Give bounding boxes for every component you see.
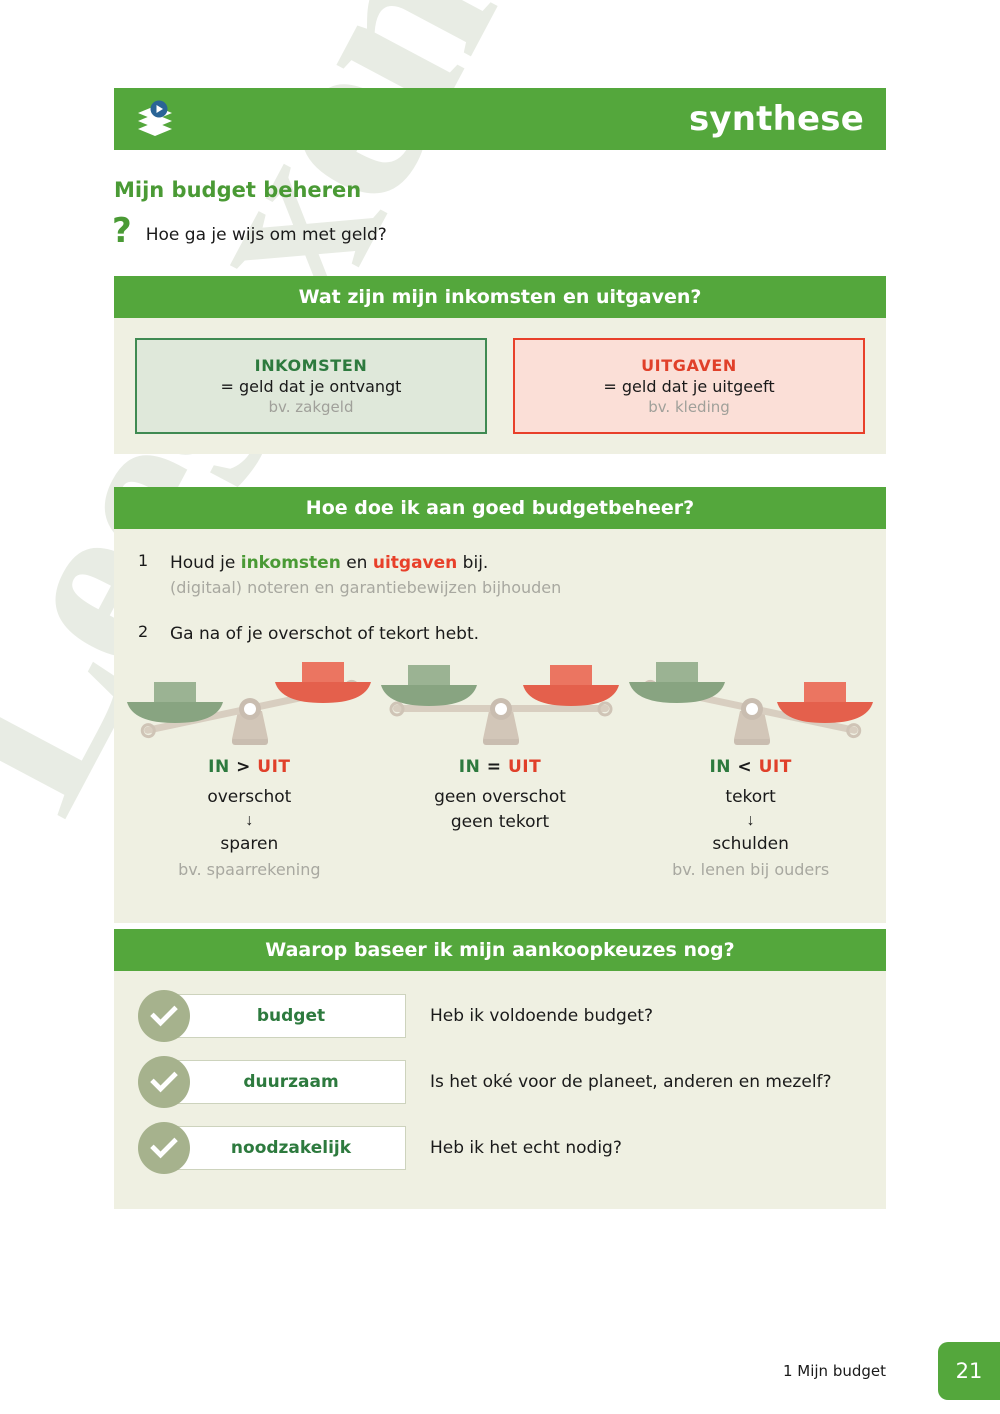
step-1-number: 1 bbox=[138, 551, 154, 600]
block-3-body: budget Heb ik voldoende budget? duurzaam… bbox=[114, 971, 886, 1209]
check-icon bbox=[138, 990, 190, 1042]
criteria-tag-label-duurzaam: duurzaam bbox=[243, 1072, 338, 1092]
expense-definition: = geld dat je uitgeeft bbox=[603, 377, 774, 396]
keyword-uitgaven: uitgaven bbox=[373, 553, 457, 573]
result-3-line1: tekort bbox=[626, 785, 876, 810]
criteria-tag-budget: budget bbox=[176, 994, 406, 1038]
criteria-tag-label-noodzakelijk: noodzakelijk bbox=[231, 1138, 351, 1158]
operator-3: < bbox=[737, 757, 752, 777]
page-title: Mijn budget beheren bbox=[114, 178, 361, 202]
criteria-tag-label-budget: budget bbox=[257, 1006, 325, 1026]
scale-illustration-surplus bbox=[124, 661, 374, 747]
income-example: bv. zakgeld bbox=[269, 398, 354, 416]
step-1-text: Houd je inkomsten en uitgaven bij. bbox=[170, 553, 488, 573]
checklist-item-noodzakelijk[interactable]: noodzakelijk Heb ik het echt nodig? bbox=[114, 1121, 886, 1175]
label-in-2: IN bbox=[459, 757, 481, 777]
result-1-line2: sparen bbox=[124, 832, 374, 857]
label-in-3: IN bbox=[709, 757, 731, 777]
step-1-subtext: (digitaal) noteren en garantiebewijzen b… bbox=[170, 576, 561, 600]
result-1-line1: overschot bbox=[124, 785, 374, 810]
expense-box: UITGAVEN = geld dat je uitgeeft bv. kled… bbox=[513, 338, 865, 434]
pan-expense bbox=[523, 665, 619, 706]
step-1-post: bij. bbox=[457, 553, 488, 573]
block-1-body: INKOMSTEN = geld dat je ontvangt bv. zak… bbox=[114, 318, 886, 454]
result-3-line2: schulden bbox=[626, 832, 876, 857]
income-definition: = geld dat je ontvangt bbox=[221, 377, 402, 396]
label-in-1: IN bbox=[208, 757, 230, 777]
block-2-body: 1 Houd je inkomsten en uitgaven bij. (di… bbox=[114, 529, 886, 923]
intro-question: ? Hoe ga je wijs om met geld? bbox=[112, 218, 387, 248]
scale-deficit: IN < UIT tekort ↓ schulden bv. lenen bij… bbox=[626, 661, 876, 883]
result-3-example: bv. lenen bij ouders bbox=[626, 857, 876, 883]
result-2-line2: geen tekort bbox=[375, 810, 625, 835]
criteria-question-noodzakelijk: Heb ik het echt nodig? bbox=[430, 1138, 622, 1158]
arrow-down-icon-1: ↓ bbox=[124, 810, 374, 832]
check-icon bbox=[138, 1056, 190, 1108]
page-number-tab: 21 bbox=[938, 1342, 1000, 1400]
label-uit-1: UIT bbox=[257, 757, 290, 777]
scale-surplus: IN > UIT overschot ↓ sparen bv. spaarrek… bbox=[124, 661, 374, 883]
pan-income bbox=[127, 682, 223, 723]
header-bar: synthese bbox=[114, 88, 886, 150]
block-income-expenses: Wat zijn mijn inkomsten en uitgaven? INK… bbox=[114, 276, 886, 454]
band-title-1: Wat zijn mijn inkomsten en uitgaven? bbox=[114, 276, 886, 318]
pan-income bbox=[629, 662, 725, 703]
criteria-question-budget: Heb ik voldoende budget? bbox=[430, 1006, 653, 1026]
checklist-item-budget[interactable]: budget Heb ik voldoende budget? bbox=[114, 989, 886, 1043]
layers-play-icon bbox=[134, 98, 176, 140]
expense-title: UITGAVEN bbox=[641, 356, 737, 375]
check-icon bbox=[138, 1122, 190, 1174]
band-title-2: Hoe doe ik aan goed budgetbeheer? bbox=[114, 487, 886, 529]
band-title-3: Waarop baseer ik mijn aankoopkeuzes nog? bbox=[114, 929, 886, 971]
comparison-balanced: IN = UIT bbox=[375, 757, 625, 777]
expense-example: bv. kleding bbox=[648, 398, 730, 416]
result-1-example: bv. spaarrekening bbox=[124, 857, 374, 883]
criteria-tag-noodzakelijk: noodzakelijk bbox=[176, 1126, 406, 1170]
keyword-inkomsten: inkomsten bbox=[241, 553, 341, 573]
result-2-line1: geen overschot bbox=[375, 785, 625, 810]
step-2-number: 2 bbox=[138, 622, 154, 647]
page-number: 21 bbox=[956, 1359, 983, 1383]
label-uit-2: UIT bbox=[508, 757, 541, 777]
step-1-pre: Houd je bbox=[170, 553, 241, 573]
comparison-deficit: IN < UIT bbox=[626, 757, 876, 777]
step-2: 2 Ga na of je overschot of tekort hebt. bbox=[114, 622, 886, 647]
pan-income bbox=[381, 665, 477, 706]
checklist-item-duurzaam[interactable]: duurzaam Is het oké voor de planeet, and… bbox=[114, 1055, 886, 1109]
intro-question-text: Hoe ga je wijs om met geld? bbox=[146, 218, 387, 248]
income-title: INKOMSTEN bbox=[255, 356, 368, 375]
page-root: synthese Mijn budget beheren ? Hoe ga je… bbox=[0, 0, 1000, 1414]
step-1: 1 Houd je inkomsten en uitgaven bij. (di… bbox=[114, 551, 886, 600]
question-mark-icon: ? bbox=[112, 218, 132, 244]
arrow-down-icon-3: ↓ bbox=[626, 810, 876, 832]
criteria-tag-duurzaam: duurzaam bbox=[176, 1060, 406, 1104]
criteria-question-duurzaam: Is het oké voor de planeet, anderen en m… bbox=[430, 1072, 832, 1092]
step-2-text: Ga na of je overschot of tekort hebt. bbox=[170, 622, 479, 647]
label-uit-3: UIT bbox=[759, 757, 792, 777]
step-1-mid: en bbox=[341, 553, 373, 573]
comparison-surplus: IN > UIT bbox=[124, 757, 374, 777]
operator-2: = bbox=[487, 757, 502, 777]
pan-expense bbox=[275, 662, 371, 703]
scale-balanced: IN = UIT geen overschot geen tekort bbox=[375, 661, 625, 835]
operator-1: > bbox=[236, 757, 251, 777]
scale-illustration-deficit bbox=[626, 661, 876, 747]
block-budget-management: Hoe doe ik aan goed budgetbeheer? 1 Houd… bbox=[114, 487, 886, 923]
block-purchase-criteria: Waarop baseer ik mijn aankoopkeuzes nog?… bbox=[114, 929, 886, 1209]
income-box: INKOMSTEN = geld dat je ontvangt bv. zak… bbox=[135, 338, 487, 434]
scale-illustration-balanced bbox=[375, 661, 625, 747]
footer-chapter: 1 Mijn budget bbox=[783, 1362, 886, 1380]
pan-expense bbox=[777, 682, 873, 723]
header-title: synthese bbox=[689, 99, 864, 139]
scales-row: IN > UIT overschot ↓ sparen bv. spaarrek… bbox=[114, 655, 886, 905]
